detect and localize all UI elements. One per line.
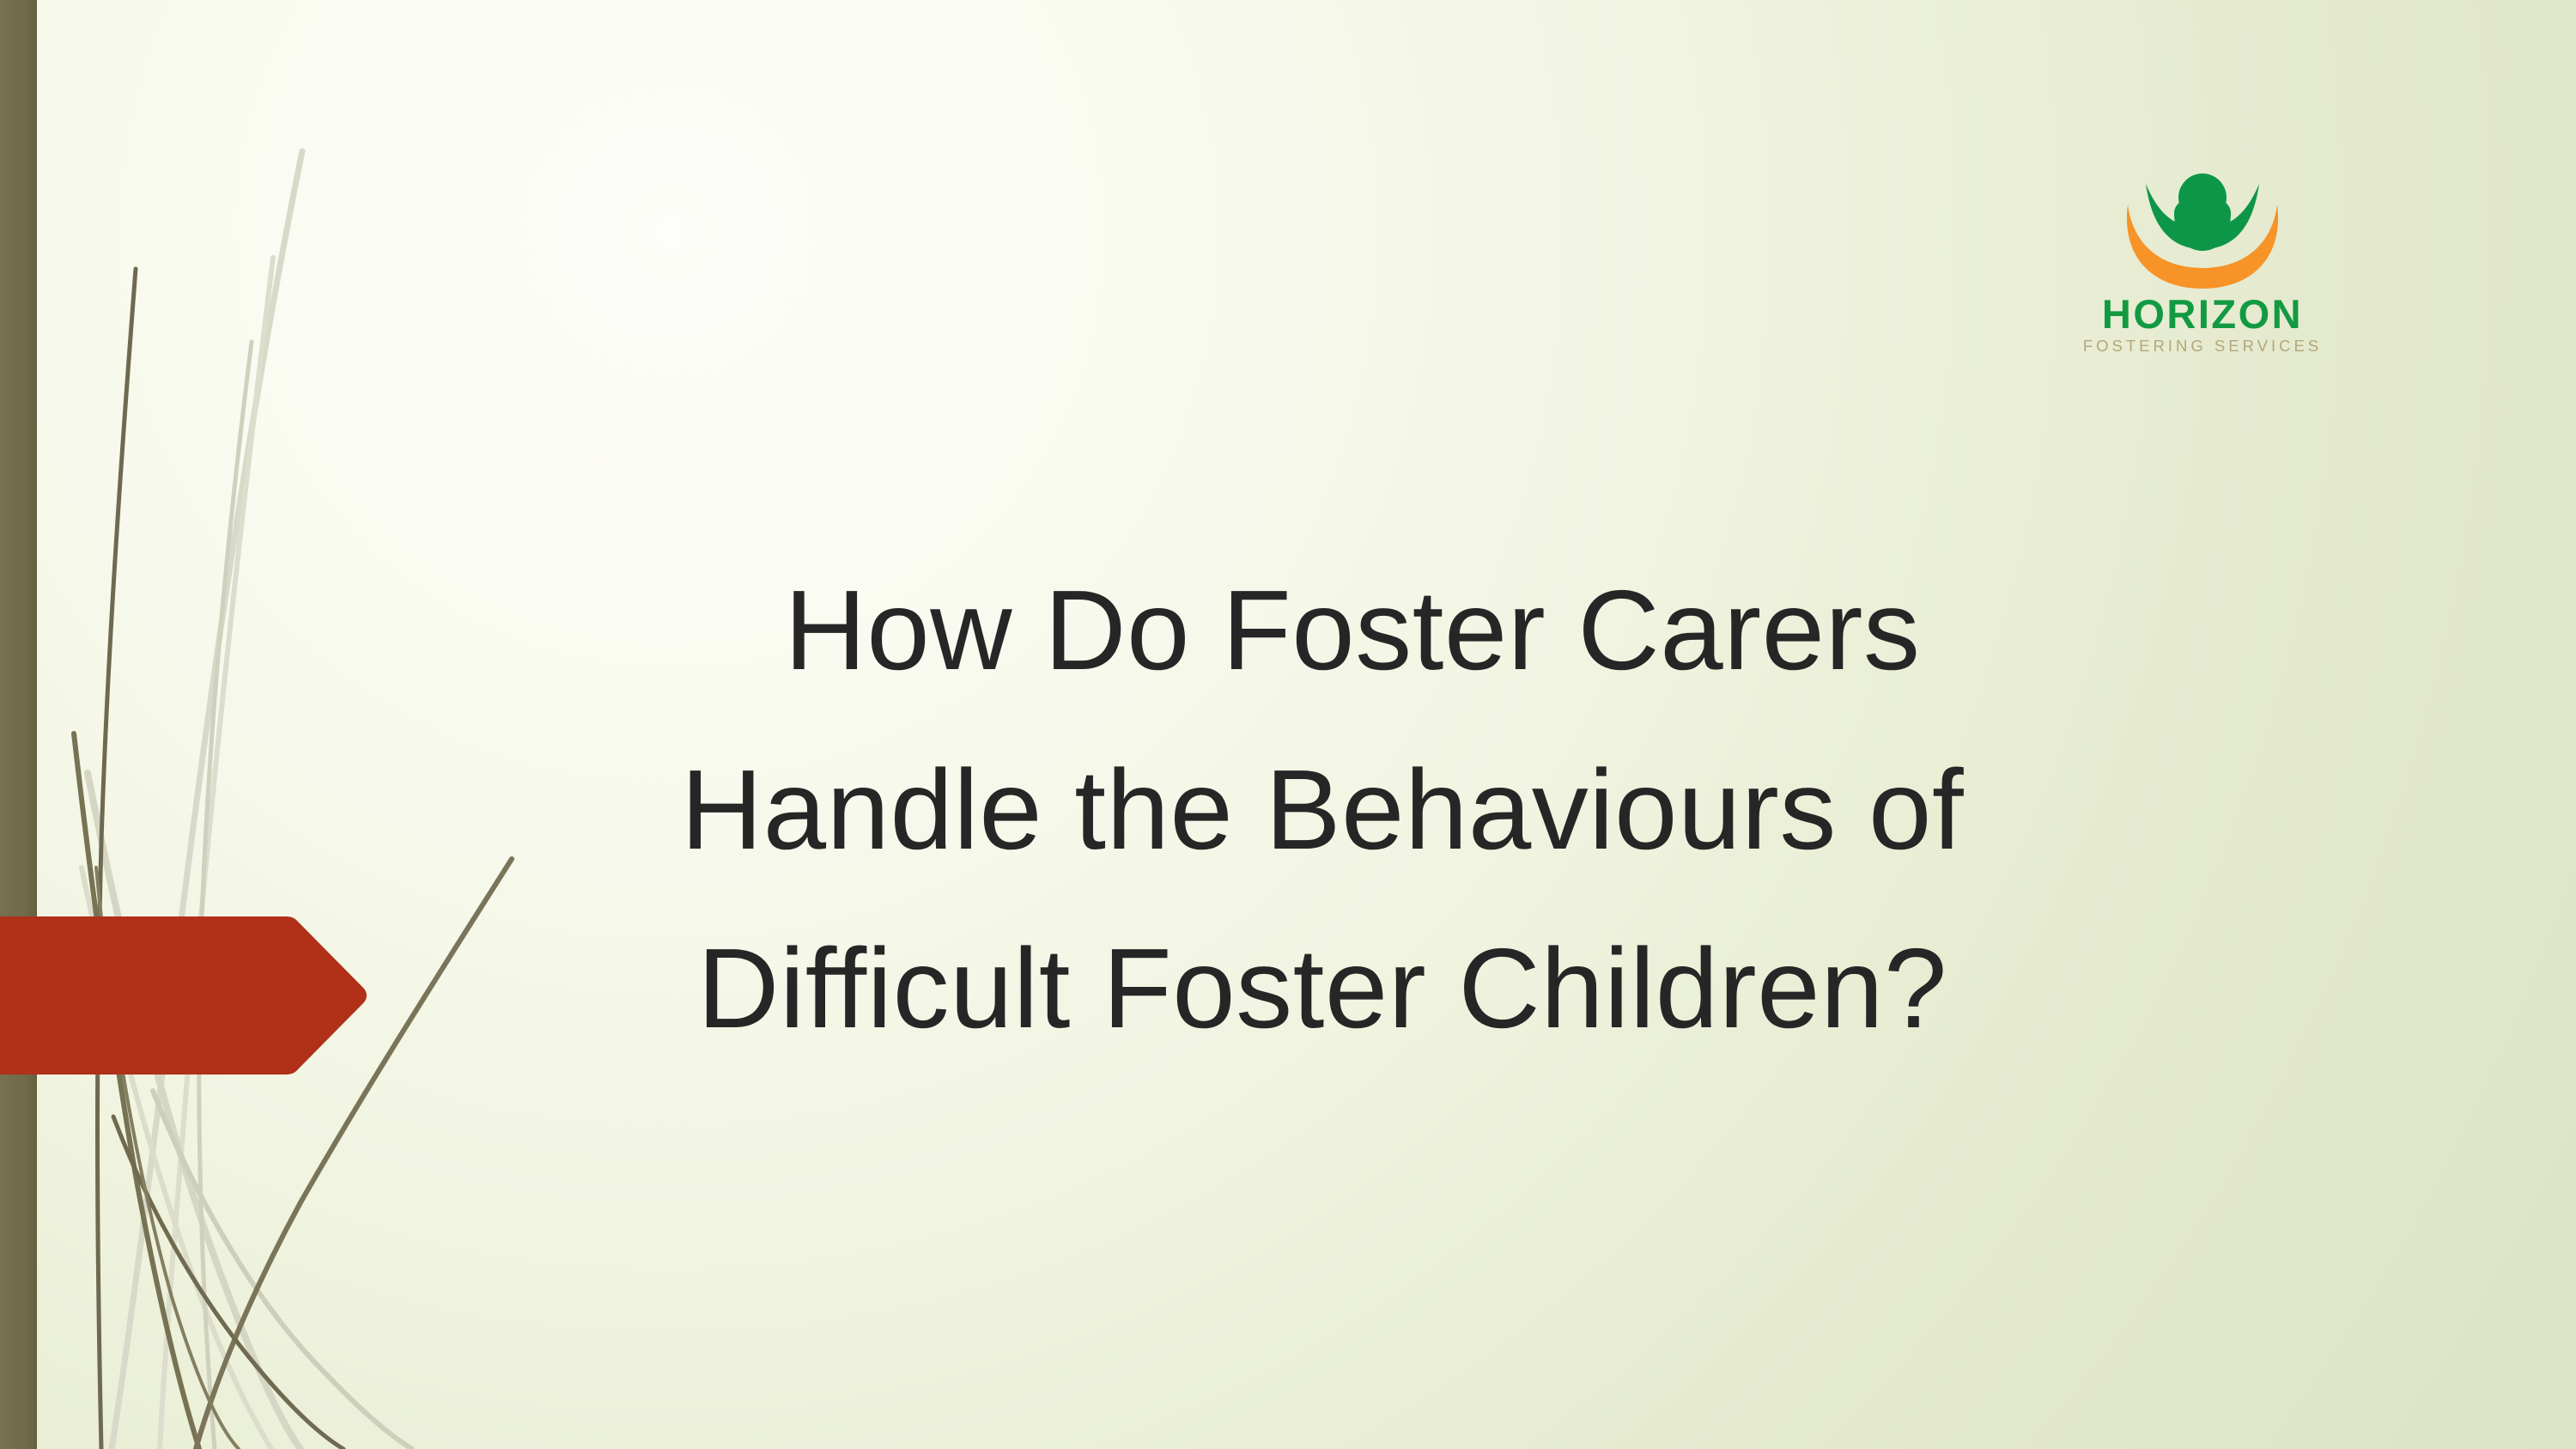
horizon-logo: HORIZON FOSTERING SERVICES [2061, 163, 2344, 361]
left-accent-bar [0, 0, 37, 1449]
logo-wordmark: HORIZON [2061, 294, 2344, 334]
title-line-2: Handle the Behaviours of [309, 721, 2336, 900]
horizon-figure-crescent-icon [2061, 163, 2344, 292]
title-line-3: Difficult Foster Children? [309, 899, 2336, 1079]
logo-tagline: FOSTERING SERVICES [2061, 338, 2344, 355]
presentation-slide: How Do Foster Carers Handle the Behaviou… [0, 0, 2576, 1449]
title-line-1: How Do Foster Carers [309, 541, 2336, 721]
slide-title: How Do Foster Carers Handle the Behaviou… [309, 541, 2336, 1079]
